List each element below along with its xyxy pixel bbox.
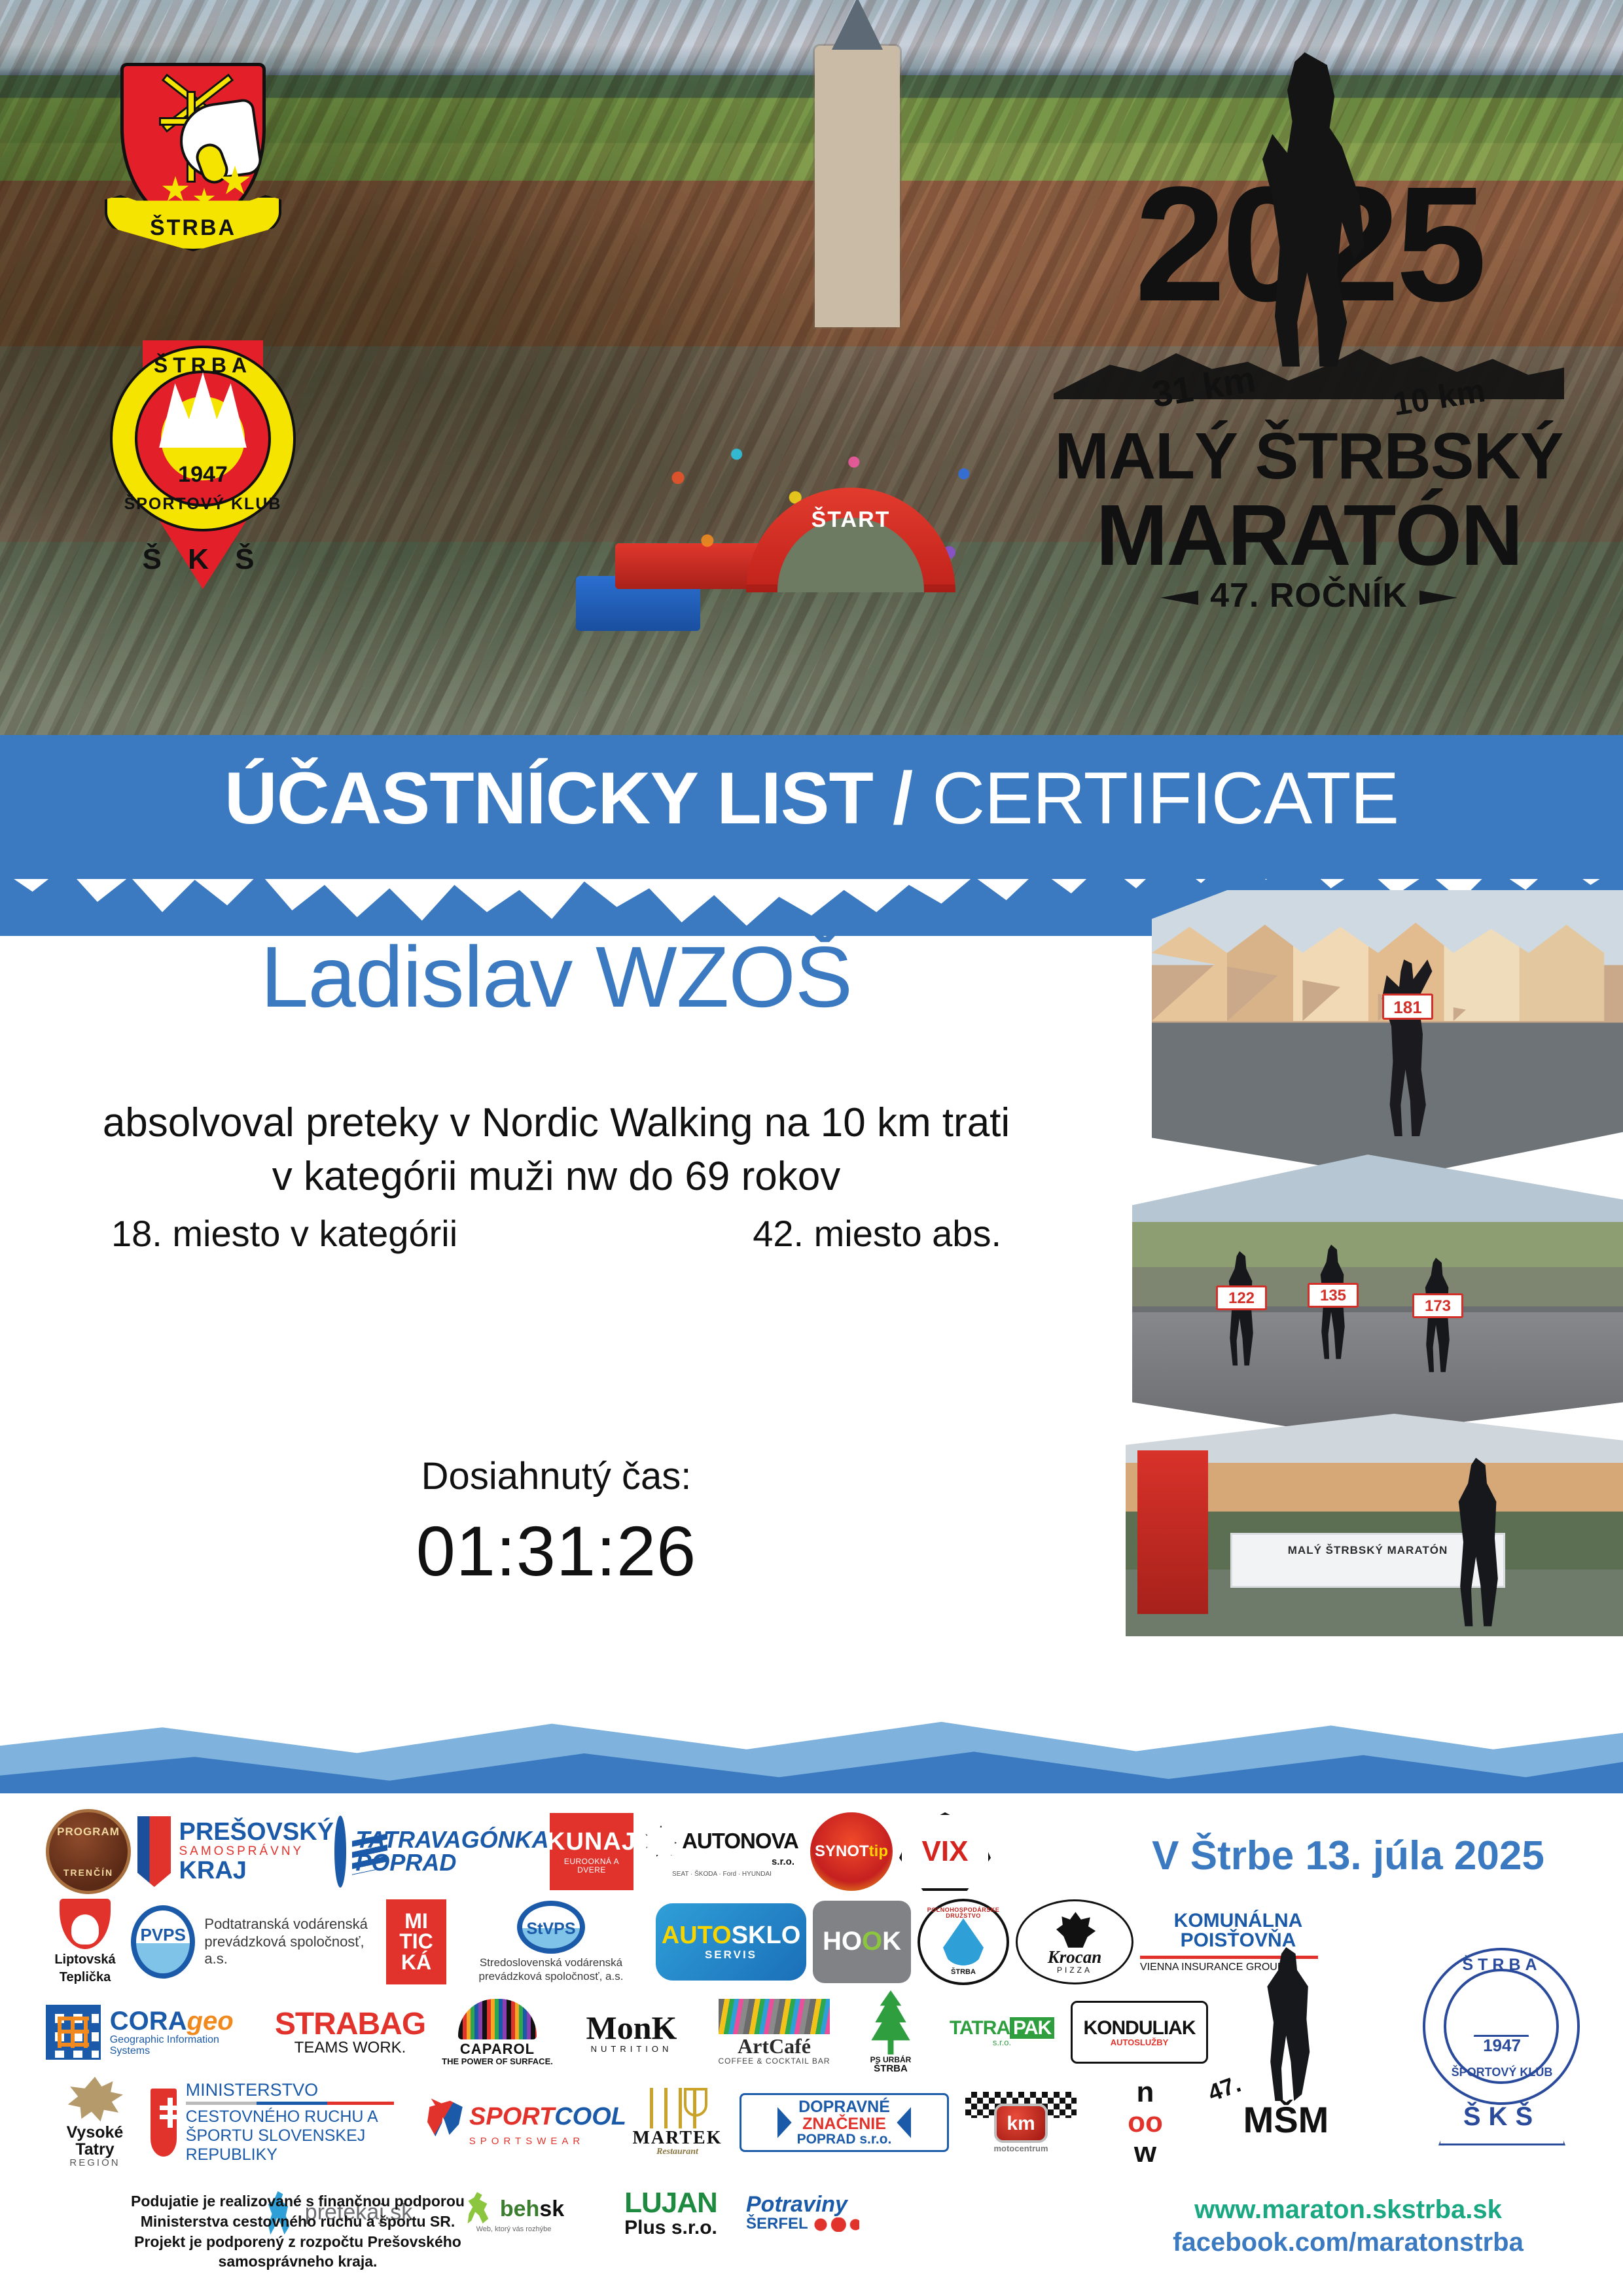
autosklo-part-1: AUTO — [662, 1922, 732, 1949]
collage-photo-finish-line: MALÝ ŠTRBSKÝ MARATÓN — [1126, 1414, 1623, 1636]
sponsor-vix: VIX — [899, 1812, 991, 1891]
autosklo-name: AUTOSKLO — [662, 1923, 801, 1949]
sponsor-liptovska-teplicka: Liptovská Teplička — [46, 1899, 124, 1985]
krocan-pizza: PIZZA — [1057, 1966, 1092, 1974]
sponsor-tatravagonka-poprad: TATRAVAGÓNKA POPRAD — [340, 1812, 543, 1891]
photo2-bib-3: 173 — [1412, 1293, 1463, 1318]
autosklo-servis: SERVIS — [705, 1949, 757, 1961]
title-separator: / — [873, 757, 932, 839]
psk-text: PREŠOVSKÝ SAMOSPRÁVNY KRAJ — [179, 1820, 334, 1884]
caparol-tagline: THE POWER OF SURFACE. — [442, 2057, 553, 2066]
kunaj-tagline: EUROOKNÁ A DVERE — [550, 1857, 633, 1874]
pvps-text: Podtatranská vodárenská prevádzková spol… — [204, 1916, 380, 1968]
dz-line-1: DOPRAVNÉ — [797, 2098, 892, 2115]
sponsor-monk-nutrition: MonK NUTRITION — [563, 1996, 700, 2068]
crest-star-1 — [162, 176, 189, 204]
sponsor-autosklo-servis: AUTOSKLO SERVIS — [656, 1903, 806, 1981]
autosklo-part-2: SKLO — [732, 1922, 801, 1949]
monk-tagline: NUTRITION — [591, 2045, 673, 2054]
artcafe-bars-icon — [719, 1999, 830, 2034]
caparol-name: CAPAROL — [460, 2042, 535, 2057]
sponsor-kunaj: KUNAJ EUROOKNÁ A DVERE — [550, 1813, 633, 1890]
funding-disclaimer: Podujatie je realizované s finančnou pod… — [79, 2191, 517, 2272]
photo2-bib-2: 135 — [1308, 1283, 1359, 1308]
photo1-background — [1152, 890, 1623, 1178]
sponsor-pvps: PVPS Podtatranská vodárenská prevádzková… — [131, 1903, 380, 1981]
crest-ribbon: ŠTRBA — [105, 195, 281, 251]
disclaimer-line-2: Ministerstva cestovného ruchu a športu S… — [79, 2212, 517, 2232]
msm-abbr: MŠM — [1204, 2089, 1368, 2149]
tree-icon — [866, 1990, 915, 2054]
autonova-brands: SEAT · ŠKODA · Ford · HYUNDAI — [672, 1871, 772, 1878]
corageo-part-1: CORA — [110, 2007, 187, 2036]
sponsor-potraviny-serfel: Potraviny ŠERFEL — [746, 2180, 903, 2246]
finish-time-label: Dosiahnutý čas: — [0, 1454, 1113, 1498]
sponsor-dopravne-znacenie: DOPRAVNÉ ZNAČENIE POPRAD s.r.o. — [740, 2093, 949, 2152]
program-label-2: TRENČÍN — [63, 1868, 113, 1878]
tatrapak-sro: s.r.o. — [993, 2038, 1011, 2047]
photo3-red-board — [1137, 1450, 1208, 1614]
noow-part-1: n — [1137, 2077, 1154, 2108]
start-arch-label: ŠTART — [746, 507, 955, 533]
marathon-edition-label: 47. ROČNÍK — [1210, 577, 1408, 615]
participant-name: Ladislav WZOŠ — [0, 929, 1113, 1024]
cutlery-icon — [650, 2088, 705, 2128]
sponsor-noow: noow — [1093, 2090, 1198, 2155]
ministerstvo-tricolor — [186, 2102, 394, 2105]
tatrapak-part-2: PAK — [1010, 2017, 1054, 2039]
participant-description: absolvoval preteky v Nordic Walking na 1… — [0, 1096, 1113, 1204]
stamp-top-label: ŠTRBA — [1407, 1956, 1597, 1975]
dz-text: DOPRAVNÉ ZNAČENIE POPRAD s.r.o. — [797, 2098, 892, 2147]
stamp-arc-label: ŠPORTOVÝ KLUB — [1407, 2066, 1597, 2079]
ministerstvo-line-1: MINISTERSTVO — [186, 2081, 432, 2099]
sport-club-crest: ŠTRBA 1947 ŠPORTOVÝ KLUB Š K Š — [105, 327, 301, 609]
dz-arrow-left-icon — [777, 2107, 792, 2138]
disclaimer-line-1: Podujatie je realizované s finančnou pod… — [79, 2191, 517, 2212]
water-drop-icon — [943, 1918, 984, 1965]
finish-time-block: Dosiahnutý čas: 01:31:26 — [0, 1454, 1113, 1592]
sponsor-km-motocentrum: km motocentrum — [955, 2087, 1086, 2159]
photo-collage: 181 122 135 173 MALÝ ŠTRBSKÝ MARATÓN — [1126, 890, 1623, 1636]
photo2-bib-1: 122 — [1216, 1285, 1267, 1310]
sportcool-tagline: SPORTSWEAR — [469, 2136, 584, 2147]
sponsor-synottip: SYNOTtip — [810, 1812, 893, 1891]
miticka-line-3: KÁ — [401, 1952, 431, 1973]
sponsor-hook: HOOK — [813, 1901, 911, 1983]
vysoke-tatry-name: Vysoké Tatry — [46, 2124, 144, 2158]
liptovska-label-2: Teplička — [60, 1971, 111, 1985]
motocentrum-label: motocentrum — [993, 2144, 1048, 2153]
corageo-name: CORAgeo — [110, 2008, 262, 2036]
pvps-abbr: PVPS — [131, 1905, 195, 1979]
corageo-tagline: Geographic Information Systems — [110, 2035, 262, 2056]
km-badge: km — [994, 2104, 1048, 2143]
sportcool-top: SPORTCOOL — [427, 2098, 626, 2136]
autonova-top: AUTONOVA — [645, 1825, 798, 1857]
synot-label: SYNOT — [815, 1844, 869, 1860]
sponsor-lujan-plus: LUJAN Plus s.r.o. — [602, 2176, 740, 2250]
mountain-range-icon — [1054, 327, 1564, 399]
sponsor-pd-strba: POĽNOHOSPODÁRSKE DRUŽSTVO ŠTRBA — [918, 1899, 1009, 1985]
psk-line-3: KRAJ — [179, 1858, 334, 1884]
hook-part-2: O — [862, 1928, 882, 1956]
collage-photo-finisher: 181 — [1152, 890, 1623, 1178]
potraviny-dots-icon — [812, 2217, 859, 2232]
vysoke-tatry-region: REGIÓN — [69, 2158, 120, 2168]
sponsor-corageo: CORAgeo Geographic Information Systems — [46, 1994, 262, 2071]
dz-line-3: POPRAD s.r.o. — [797, 2132, 892, 2147]
disclaimer-line-3: Projekt je podporený z rozpočtu Prešovsk… — [79, 2232, 517, 2272]
hook-part-1: HO — [823, 1928, 862, 1956]
sportcool-part-2: COOL — [554, 2103, 626, 2130]
sponsor-row-4: Vysoké Tatry REGIÓN MINISTERSTVO CESTOVN… — [46, 2077, 1132, 2168]
sponsor-row-2: Liptovská Teplička PVPS Podtatranská vod… — [46, 1897, 1132, 1987]
stvps-desc-1: Stredoslovenská vodárenská — [479, 1956, 624, 1969]
potraviny-name: Potraviny — [746, 2193, 847, 2216]
title-thin-part: CERTIFICATE — [932, 757, 1399, 839]
sponsor-ps-urbar-strba: PS URBÁR ŠTRBA — [848, 1989, 933, 2075]
pd-ring-label: POĽNOHOSPODÁRSKE DRUŽSTVO — [920, 1907, 1007, 1920]
stvps-abbr: StVPS — [517, 1901, 585, 1954]
description-line-2: v kategórii muži nw do 69 rokov — [0, 1150, 1113, 1204]
sponsor-miticka: MI TIC KÁ — [386, 1899, 446, 1984]
miticka-line-1: MI — [404, 1911, 428, 1931]
urbar-label-2: ŠTRBA — [874, 2064, 908, 2074]
marathon-logo: 2025 31 km 10 km MALÝ ŠTRBSKÝ MARATÓN 47… — [1034, 52, 1584, 615]
tatrapak-name: TATRAPAK — [950, 2018, 1054, 2038]
sponsor-program-trencin: PROGRAM TRENČÍN — [46, 1809, 131, 1894]
sportcool-part-1: SPORT — [469, 2103, 554, 2130]
club-stamp: ŠTRBA 1947 ŠPORTOVÝ KLUB ŠKŠ — [1407, 1937, 1597, 2153]
behsk-part-2: sk — [539, 2197, 564, 2221]
krocan-name: Krocan — [1048, 1948, 1102, 1966]
konduliak-tagline: AUTOSLUŽBY — [1111, 2038, 1169, 2047]
synot-tip-label: tip — [869, 1844, 888, 1860]
stvps-desc-2: prevádzková spoločnosť, a.s. — [479, 1970, 624, 1983]
noow-part-3: w — [1134, 2138, 1156, 2168]
pvps-desc-1: Podtatranská vodárenská — [204, 1916, 380, 1933]
description-line-1: absolvoval preteky v Nordic Walking na 1… — [0, 1096, 1113, 1150]
sponsor-martek-restaurant: MARTEK Restaurant — [622, 2081, 733, 2164]
dz-arrow-right-icon — [897, 2107, 911, 2138]
church-tower — [815, 46, 900, 327]
issue-date: V Štrbe 13. júla 2025 — [1132, 1833, 1564, 1879]
kunaj-name: KUNAJ — [547, 1829, 636, 1856]
ministerstvo-line-2: CESTOVNÉHO RUCHU A ŠPORTU SLOVENSKEJ REP… — [186, 2108, 432, 2164]
sponsor-krocan-pizza: Krocan PIZZA — [1016, 1899, 1133, 1984]
artcafe-name: ArtCafé — [738, 2036, 811, 2057]
sponsor-tatrapak: TATRAPAK s.r.o. — [940, 2002, 1064, 2062]
sponsor-presovsky-kraj: PREŠOVSKÝ SAMOSPRÁVNY KRAJ — [137, 1812, 334, 1891]
club-crest-year: 1947 — [105, 462, 301, 488]
hook-part-3: K — [882, 1928, 901, 1956]
sportcool-name: SPORTCOOL — [469, 2104, 626, 2130]
slovak-crest-icon — [151, 2089, 177, 2157]
sponsor-konduliak: KONDULIAK AUTOSLUŽBY — [1071, 2001, 1208, 2064]
corageo-text: CORAgeo Geographic Information Systems — [110, 2008, 262, 2057]
vix-label: VIX — [922, 1837, 969, 1867]
martek-tagline: Restaurant — [656, 2147, 698, 2157]
autonova-sro: s.r.o. — [772, 1857, 794, 1867]
sponsor-caparol: CAPAROL THE POWER OF SURFACE. — [438, 1992, 556, 2073]
photo1-bib-number: 181 — [1382, 994, 1433, 1020]
ministerstvo-text: MINISTERSTVO CESTOVNÉHO RUCHU A ŠPORTU S… — [186, 2081, 432, 2164]
crest-ribbon-label: ŠTRBA — [107, 215, 279, 241]
psk-line-2: SAMOSPRÁVNY — [179, 1845, 334, 1858]
sponsor-sportcool: SPORTCOOL SPORTSWEAR — [438, 2086, 615, 2159]
club-crest-arc-label: ŠPORTOVÝ KLUB — [105, 495, 301, 514]
sponsor-row-3: CORAgeo Geographic Information Systems S… — [46, 1987, 1132, 2077]
psk-line-1: PREŠOVSKÝ — [179, 1820, 334, 1846]
msm-emblem: 47. MŠM — [1204, 1937, 1368, 2153]
starburst-icon — [645, 1825, 677, 1857]
monk-name: MonK — [586, 2011, 677, 2045]
msm-runner-icon — [1250, 1944, 1329, 2108]
club-crest-top-label: ŠTRBA — [105, 353, 301, 378]
pvps-desc-2: prevádzková spoločnosť, a.s. — [204, 1933, 380, 1969]
corageo-part-2: geo — [187, 2007, 234, 2036]
sponsor-stvps: StVPS Stredoslovenská vodárenská prevádz… — [453, 1901, 649, 1983]
liptovska-label-1: Liptovská — [54, 1953, 115, 1967]
program-label-1: PROGRAM — [57, 1826, 120, 1838]
absolute-placement: 42. miesto abs. — [753, 1212, 1001, 1255]
marathon-title-line1: MALÝ ŠTRBSKÝ — [1034, 419, 1584, 494]
dz-line-2: ZNAČENIE — [797, 2115, 892, 2132]
strba-town-crest: ŠTRBA — [105, 56, 281, 272]
contact-links: www.maraton.skstrba.sk facebook.com/mara… — [1132, 2194, 1564, 2259]
artcafe-tagline: COFFEE & COCKTAIL BAR — [718, 2057, 830, 2065]
facebook-link[interactable]: facebook.com/maratonstrba — [1132, 2227, 1564, 2259]
sportcool-swoosh-icon — [427, 2098, 464, 2136]
noow-part-2: oo — [1128, 2108, 1163, 2138]
tatrapak-part-1: TATRA — [950, 2017, 1010, 2039]
lujan-name: LUJAN — [624, 2188, 717, 2218]
stamp-year: 1947 — [1407, 2036, 1597, 2056]
autonova-name: AUTONOVA — [682, 1830, 798, 1852]
strabag-name: STRABAG — [275, 2008, 425, 2041]
website-link[interactable]: www.maraton.skstrba.sk — [1132, 2194, 1564, 2227]
turkey-icon — [1052, 1910, 1097, 1948]
collage-photo-hill-runners: 122 135 173 — [1132, 1155, 1623, 1436]
potraviny-row: ŠERFEL — [746, 2216, 859, 2233]
sponsor-grid: PROGRAM TRENČÍN PREŠOVSKÝ SAMOSPRÁVNY KR… — [46, 1806, 1132, 2186]
caparol-elephant-icon — [458, 1999, 537, 2039]
strabag-tagline: TEAMS WORK. — [294, 2040, 406, 2056]
arrow-right-icon — [1419, 590, 1457, 605]
marathon-title-line2: MARATÓN — [1034, 486, 1584, 584]
miticka-line-2: TIC — [399, 1931, 433, 1952]
psk-flag-icon — [137, 1816, 171, 1887]
sponsor-autonova: AUTONOVA s.r.o. SEAT · ŠKODA · Ford · HY… — [640, 1811, 804, 1892]
arrow-left-icon — [1160, 590, 1198, 605]
club-crest-abbr: Š K Š — [105, 543, 301, 576]
martek-name: MARTEK — [632, 2128, 722, 2147]
placement-row: 18. miesto v kategórii 42. miesto abs. — [0, 1212, 1113, 1255]
sponsor-artcafe: ArtCafé COFFEE & COCKTAIL BAR — [707, 1991, 842, 2073]
stamp-abbr: ŠKŠ — [1407, 2102, 1597, 2132]
lujan-suffix: Plus s.r.o. — [624, 2217, 717, 2238]
certificate-body: Ladislav WZOŠ absolvoval preteky v Nordi… — [0, 929, 1113, 1204]
corageo-grid-icon — [46, 2005, 101, 2060]
page-title: ÚČASTNÍCKY LIST / CERTIFICATE — [0, 756, 1623, 840]
title-bold-part: ÚČASTNÍCKY LIST — [224, 757, 873, 839]
tatravagonka-mark-icon — [334, 1816, 346, 1888]
sponsor-vysoke-tatry: Vysoké Tatry REGIÓN — [46, 2077, 144, 2168]
certificate-title-band: ÚČASTNÍCKY LIST / CERTIFICATE — [0, 735, 1623, 879]
konduliak-name: KONDULIAK — [1084, 2018, 1196, 2038]
chamois-icon — [67, 2077, 123, 2121]
liptovska-shield-icon — [60, 1899, 111, 1949]
sponsor-strabag: STRABAG TEAMS WORK. — [268, 1996, 432, 2068]
category-placement: 18. miesto v kategórii — [111, 1212, 457, 1255]
stvps-text: Stredoslovenská vodárenská prevádzková s… — [479, 1956, 624, 1983]
marathon-edition: 47. ROČNÍK — [1034, 576, 1584, 615]
sponsor-row-1: PROGRAM TRENČÍN PREŠOVSKÝ SAMOSPRÁVNY KR… — [46, 1806, 1132, 1897]
serfel-name: ŠERFEL — [746, 2216, 808, 2233]
pd-strba-label: ŠTRBA — [951, 1969, 976, 1976]
sponsor-ministerstvo: MINISTERSTVO CESTOVNÉHO RUCHU A ŠPORTU S… — [151, 2078, 432, 2167]
finish-time-value: 01:31:26 — [0, 1510, 1113, 1592]
